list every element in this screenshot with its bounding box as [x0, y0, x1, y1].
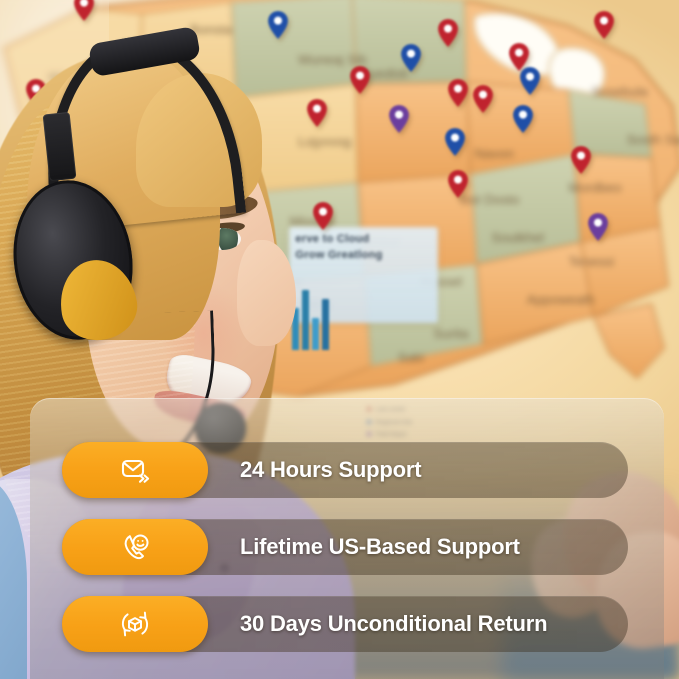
envelope-fast-icon — [119, 454, 151, 486]
map-pin — [512, 104, 534, 134]
map-pin — [444, 127, 466, 157]
map-pin — [519, 66, 541, 96]
feature-row: Lifetime US-Based Support — [62, 519, 664, 575]
feature-icon-pill[interactable] — [62, 596, 208, 652]
phone-smiley-icon — [119, 531, 151, 563]
map-pin — [570, 145, 592, 175]
feature-icon-pill[interactable] — [62, 442, 208, 498]
feature-label: 30 Days Unconditional Return — [240, 596, 547, 652]
map-pin — [447, 78, 469, 108]
feature-list: 24 Hours Support Lif — [62, 442, 664, 673]
map-pin — [400, 43, 422, 73]
map-pin — [587, 212, 609, 242]
feature-overlay-panel: 24 Hours Support Lif — [30, 398, 664, 679]
feature-row: 24 Hours Support — [62, 442, 664, 498]
map-pin — [593, 10, 615, 40]
feature-icon-pill[interactable] — [62, 519, 208, 575]
map-pin — [388, 104, 410, 134]
marketing-image: Waneda Bor Bonsta Wuneaj Sib Buedisk Sos… — [0, 0, 679, 679]
map-pin — [437, 18, 459, 48]
box-return-icon — [119, 608, 151, 640]
nose — [237, 240, 296, 346]
feature-label: Lifetime US-Based Support — [240, 519, 520, 575]
feature-label: 24 Hours Support — [240, 442, 421, 498]
feature-row: 30 Days Unconditional Return — [62, 596, 664, 652]
map-pin — [472, 84, 494, 114]
map-pin — [447, 169, 469, 199]
